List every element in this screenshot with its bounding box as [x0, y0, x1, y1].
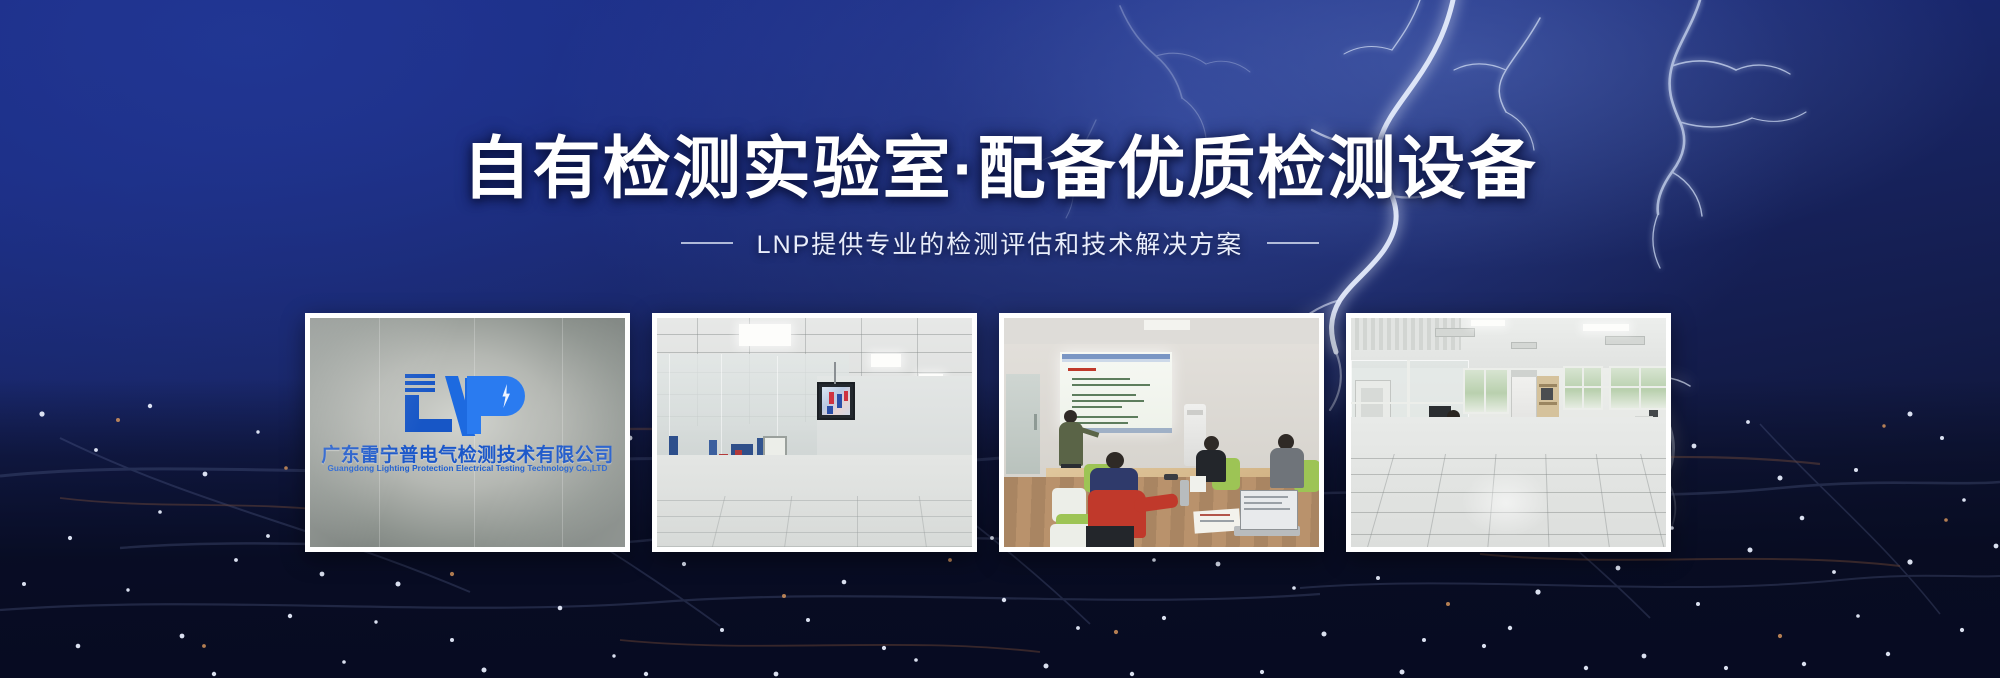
gallery-item-training-meeting-room[interactable] [999, 313, 1324, 552]
page-title: 自有检测实验室·配备优质检测设备 [0, 135, 2000, 203]
gallery-item-testing-laboratory[interactable] [652, 313, 977, 552]
glass-sheen [310, 318, 625, 547]
wall-monitor-icon [817, 382, 855, 420]
photo-testing-laboratory [657, 318, 972, 547]
projection-screen [1060, 352, 1172, 432]
gallery-item-office-reception-area[interactable] [1346, 313, 1671, 552]
attendee-3 [1270, 448, 1304, 488]
hero-banner: 自有检测实验室·配备优质检测设备 LNP提供专业的检测评估和技术解决方案 [0, 0, 2000, 678]
photo-office-reception-area [1351, 318, 1666, 547]
divider-right [1267, 242, 1319, 244]
divider-left [681, 242, 733, 244]
photo-gallery: 广东雷宁普电气检测技术有限公司 Guangdong Lighting Prote… [305, 313, 1671, 552]
page-subtitle: LNP提供专业的检测评估和技术解决方案 [757, 225, 1244, 261]
photo-company-logo-wall: 广东雷宁普电气检测技术有限公司 Guangdong Lighting Prote… [310, 318, 625, 547]
subtitle-row: LNP提供专业的检测评估和技术解决方案 [0, 225, 2000, 261]
photo-training-meeting-room [1004, 318, 1319, 547]
presenter-body [1059, 422, 1083, 466]
gallery-item-company-logo-wall[interactable]: 广东雷宁普电气检测技术有限公司 Guangdong Lighting Prote… [305, 313, 630, 552]
